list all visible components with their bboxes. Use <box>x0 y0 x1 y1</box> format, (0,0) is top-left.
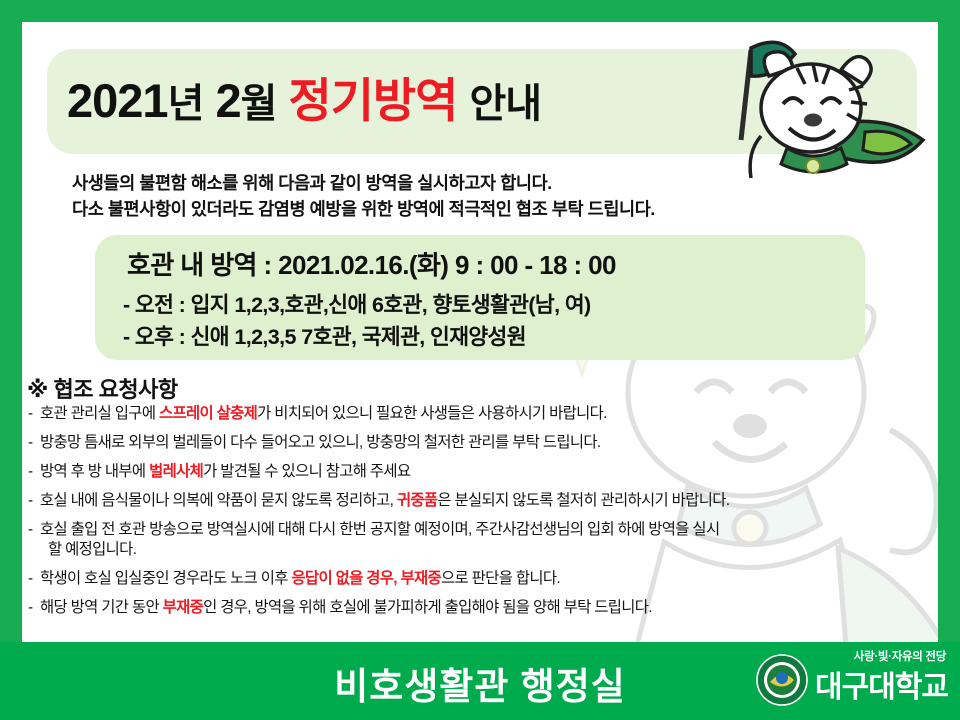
schedule-morning: - 오전 : 입지 1,2,3,호관,신애 6호관, 향토생활관(남, 여) <box>123 288 591 319</box>
note-post: 인 경우, 방역을 위해 호실에 불가피하게 출입해야 됨을 양해 부탁 드립니… <box>203 599 652 616</box>
note-pre: 학생이 호실 입실중인 경우라도 노크 이후 <box>40 570 291 587</box>
schedule-panel: 호관 내 방역 : 2021.02.16.(화) 9 : 00 - 18 : 0… <box>95 235 865 360</box>
footer-bar: 비호생활관 행정실 사랑·빛·자유의 전당 대구대학교 <box>0 642 960 720</box>
note-highlight: 스프레이 살충제 <box>159 405 257 422</box>
title-month: 2 <box>215 74 240 127</box>
notes-heading: ※ 협조 요청사항 <box>27 372 178 404</box>
note-highlight: 부재중 <box>163 599 204 616</box>
note-pre: 호관 관리실 입구에 <box>40 405 159 422</box>
daegu-university-emblem-icon <box>756 654 808 706</box>
list-item: 학생이 호실 입실중인 경우라도 노크 이후 응답이 없을 경우, 부재중으로 … <box>28 569 928 589</box>
note-highlight: 응답이 없을 경우, 부재중 <box>291 570 441 587</box>
title-tail: 안내 <box>469 82 541 126</box>
list-item: 호실 내에 음식물이나 의복에 약품이 묻지 않도록 정리하고, 귀중품은 분실… <box>28 491 928 511</box>
note-pre: 해당 방역 기간 동안 <box>40 599 163 616</box>
notes-list: 호관 관리실 입구에 스프레이 살충제가 비치되어 있으니 필요한 사생들은 사… <box>28 404 928 627</box>
note-pre: 호실 출입 전 호관 방송으로 방역실시에 대해 다시 한번 공지할 예정이며,… <box>40 521 719 538</box>
university-name: 대구대학교 <box>815 662 948 706</box>
title-year-suffix: 년 <box>168 82 204 126</box>
schedule-afternoon: - 오후 : 신애 1,2,3,5 7호관, 국제관, 인재양성원 <box>123 320 526 351</box>
page-title: 2021년 2월 정기방역 안내 <box>67 59 767 146</box>
intro-line-2: 다소 불편사항이 있더라도 감염병 예방을 위한 방역에 적극적인 협조 부탁 … <box>72 196 902 222</box>
note-post: 으로 판단을 합니다. <box>441 570 560 587</box>
intro-paragraph: 사생들의 불편함 해소를 위해 다음과 같이 방역을 실시하고자 합니다. 다소… <box>72 170 902 222</box>
poster-root: 2021년 2월 정기방역 안내 <box>0 0 960 720</box>
list-item: 해당 방역 기간 동안 부재중인 경우, 방역을 위해 호실에 불가피하게 출입… <box>28 598 928 618</box>
list-item: 호실 출입 전 호관 방송으로 방역실시에 대해 다시 한번 공지할 예정이며,… <box>28 520 928 560</box>
note-continuation: 할 예정입니다. <box>40 540 928 560</box>
title-year: 2021 <box>67 74 168 127</box>
title-accent: 정기방역 <box>288 74 457 127</box>
title-month-suffix: 월 <box>241 82 277 126</box>
list-item: 방충망 틈새로 외부의 벌레들이 다수 들어오고 있으니, 방충망의 철저한 관… <box>28 433 928 453</box>
note-post: 가 발견될 수 있으니 참고해 주세요 <box>203 463 410 480</box>
schedule-heading: 호관 내 방역 : 2021.02.16.(화) 9 : 00 - 18 : 0… <box>127 245 616 282</box>
poster-sheet: 2021년 2월 정기방역 안내 <box>22 22 938 642</box>
note-pre: 방역 후 방 내부에 <box>40 463 149 480</box>
mascot-tiger-icon <box>725 32 930 182</box>
list-item: 방역 후 방 내부에 벌레사체가 발견될 수 있으니 참고해 주세요 <box>28 462 928 482</box>
list-item: 호관 관리실 입구에 스프레이 살충제가 비치되어 있으니 필요한 사생들은 사… <box>28 404 928 424</box>
note-pre: 호실 내에 음식물이나 의복에 약품이 묻지 않도록 정리하고, <box>40 492 397 509</box>
note-highlight: 벌레사체 <box>149 463 203 480</box>
intro-line-1: 사생들의 불편함 해소를 위해 다음과 같이 방역을 실시하고자 합니다. <box>72 170 902 196</box>
note-pre: 방충망 틈새로 외부의 벌레들이 다수 들어오고 있으니, 방충망의 철저한 관… <box>40 434 601 451</box>
note-highlight: 귀중품 <box>397 492 438 509</box>
note-post: 가 비치되어 있으니 필요한 사생들은 사용하시기 바랍니다. <box>257 405 607 422</box>
note-post: 은 분실되지 않도록 철저히 관리하시기 바랍니다. <box>437 492 729 509</box>
